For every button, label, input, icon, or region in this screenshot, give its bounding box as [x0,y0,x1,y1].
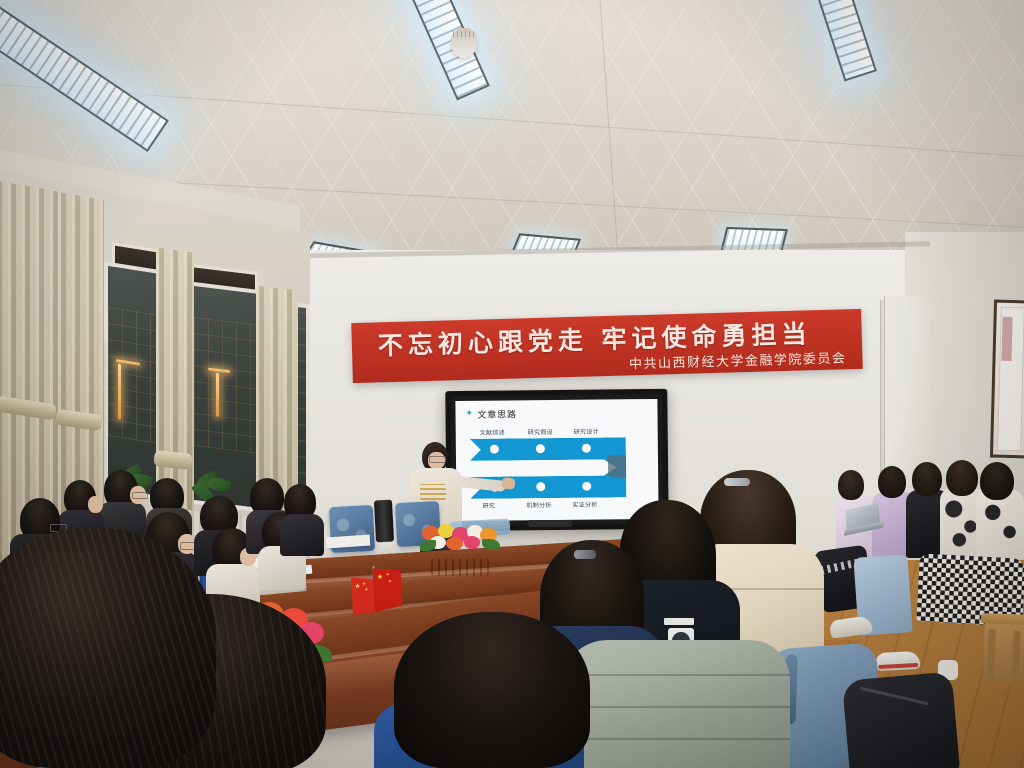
desktop-speaker [374,500,394,543]
chinese-flag: ★ ★ ★ [372,567,402,612]
slide-node-dot [582,444,591,453]
sneaker [876,651,921,671]
backpack[interactable] [842,671,960,768]
jacket-label [664,618,694,625]
picture-content [1001,317,1012,361]
hair-tie [574,550,596,559]
stool-leg [1012,630,1021,684]
flag-star: ★ [388,577,392,584]
sparkle-icon: ✦ [465,409,474,418]
slide-title: 文章思路 [477,407,516,420]
person-head [838,470,864,500]
flower-basket [431,559,489,576]
smoke-detector-icon [451,28,477,58]
slide-step-label: 研究 [482,501,495,510]
person-head [878,466,906,498]
window-grid [194,316,260,454]
slide-node-dot [582,482,591,491]
audience-member-back [560,640,790,768]
flower [446,537,463,550]
flower-arrangement [420,524,500,576]
stool-seat[interactable] [981,613,1024,625]
presenter-hand [501,477,515,489]
slide-step-label: 研究假设 [528,427,553,436]
hair-strands [0,528,216,768]
audience-member-back [0,528,216,768]
seated-person-body [976,490,1024,560]
person-head [980,462,1014,500]
display-stand [528,520,572,527]
slide-step-label: 文献综述 [480,428,505,437]
slide-step-label: 研究设计 [574,427,599,436]
person-hair [394,612,590,768]
wooden-stool[interactable] [983,613,1024,684]
framed-picture [990,300,1024,459]
slide-arrow-shadow [608,455,626,477]
foliage [482,539,500,550]
slide-node-dot [490,445,499,454]
flag-star: ★ [364,586,368,593]
slide-step-label: 机制分析 [526,500,551,509]
hair-clip [724,478,750,486]
glasses-icon [132,492,148,499]
stool-leg [987,629,996,683]
gray-puffer-jacket [560,640,790,768]
person-torso [280,514,324,556]
backpack-zipper [860,687,929,706]
sweatshirt-graphic [420,484,446,500]
jacket-seam [560,738,790,740]
flower [464,536,480,549]
slide-step-label: 实证分析 [572,500,597,509]
person-face [88,496,103,513]
glasses-icon [429,456,446,463]
foliage [420,540,436,551]
slide-node-dot [536,444,545,453]
slide-node-dot [536,482,545,491]
lecture-hall-scene: 不忘初心跟党走 牢记使命勇担当 中共山西财经大学金融学院委员会 ✦ 文章思路 文… [0,0,1024,768]
jacket-seam [560,674,790,676]
person-head [946,460,978,496]
jacket-seam [560,706,790,708]
flag-star: ★ [377,574,384,581]
person-head [912,462,942,496]
audience-member-back [394,612,590,768]
flag-star: ★ [354,583,361,590]
